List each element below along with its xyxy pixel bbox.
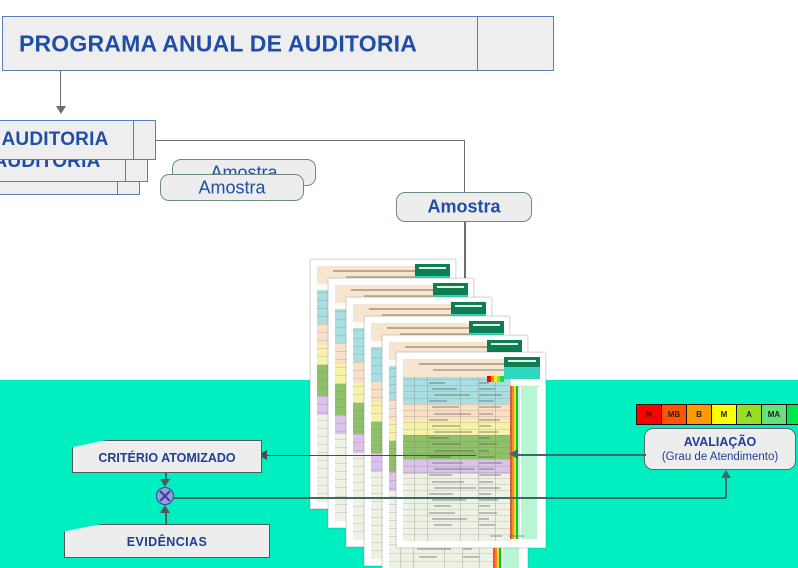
document-text-run: [479, 388, 495, 390]
connector-junction-to-avaliacao-vertical: [725, 478, 727, 498]
document-text-run: [434, 431, 472, 433]
criterio-atomizado-label: CRITÉRIO ATOMIZADO: [73, 451, 261, 465]
connector-junction-to-avaliacao-horizontal: [170, 497, 726, 499]
document-text-run: [479, 462, 502, 464]
document-gridline: [403, 441, 510, 442]
document-gridline: [403, 490, 510, 491]
arrowhead-evidencias-to-junction: [160, 505, 170, 513]
document-text-run: [429, 474, 452, 476]
document-text-run: [432, 499, 466, 501]
programa-anual-de-auditoria-box[interactable]: PROGRAMA ANUAL DE AUDITORIA: [2, 16, 554, 71]
document-gridline: [403, 422, 510, 423]
auditoria-box-1-divider: [133, 121, 134, 159]
arrowhead-avaliacao-to-documents: [509, 449, 518, 459]
document-text-run: [479, 487, 499, 489]
checklist-document-6[interactable]: [396, 352, 546, 548]
document-color-ribbon-5: [518, 386, 520, 539]
document-gridline: [403, 466, 510, 467]
document-gridline: [403, 459, 510, 460]
document-text-run: [479, 518, 489, 520]
document-text-run: [479, 406, 501, 408]
connector-auditoria-to-amostra-vertical: [464, 140, 465, 192]
document-text-run: [479, 456, 495, 458]
legend-cell-ma: MA: [762, 405, 787, 424]
document-text-run: [434, 413, 471, 415]
document-summary-title: [491, 343, 518, 345]
document-text-run: [419, 556, 436, 558]
legend-cell-a: A: [737, 405, 762, 424]
document-text-run: [432, 388, 458, 390]
grau-atendimento-legend: NMBBMAMA: [636, 404, 798, 425]
auditoria-box-1[interactable]: AUDITORIA: [0, 120, 156, 160]
arrowhead-title-to-auditoria: [56, 106, 66, 114]
document-gridline: [403, 391, 510, 392]
document-text-run: [434, 487, 476, 489]
document-gridline: [403, 478, 510, 479]
document-text-run: [479, 431, 498, 433]
document-summary-title: [473, 324, 500, 326]
amostra-box-stack-1-label: Amostra: [161, 177, 303, 198]
avaliacao-title: AVALIAÇÃO: [684, 435, 756, 450]
document-text-run: [434, 468, 475, 470]
connector-evidencias-to-junction: [165, 512, 167, 524]
document-text-run: [429, 400, 447, 402]
document-text-run: [479, 437, 490, 439]
document-text-run: [429, 382, 445, 384]
document-color-ribbon-6: [521, 386, 537, 539]
document-text-run: [434, 450, 473, 452]
connector-auditoria-to-amostra-horizontal: [156, 140, 465, 141]
document-text-run: [479, 499, 498, 501]
amostra-main-box[interactable]: Amostra: [396, 192, 532, 222]
connector-avaliacao-to-documents: [518, 454, 646, 456]
document-gridline: [403, 509, 510, 510]
document-text-run: [429, 419, 448, 421]
document-text-run: [479, 443, 497, 445]
document-summary-body: [504, 367, 541, 379]
document-gridline: [403, 503, 510, 504]
document-gridline: [403, 416, 510, 417]
legend-cell-mb: MB: [662, 405, 687, 424]
document-text-run: [429, 493, 453, 495]
document-text-run: [463, 548, 472, 550]
document-text-run: [479, 512, 497, 514]
document-gridline: [403, 484, 510, 485]
legend-cell-b: B: [687, 405, 712, 424]
document-mini-legend-bars: [487, 376, 503, 382]
document-footnote: [490, 535, 502, 537]
document-column-line: [414, 377, 415, 541]
document-gridline: [403, 385, 510, 386]
connector-title-to-auditoria: [60, 71, 61, 107]
auditoria-box-1-label: AUDITORIA: [0, 129, 133, 151]
arrowhead-criterio-to-junction: [160, 479, 170, 487]
document-summary-title: [419, 267, 446, 269]
document-text-run: [479, 394, 502, 396]
document-gridline: [403, 447, 510, 448]
document-gridline: [403, 521, 510, 522]
document-summary-title: [455, 305, 482, 307]
arrowhead-into-avaliacao: [721, 470, 731, 478]
document-text-run: [479, 425, 491, 427]
legend-cell-n: N: [637, 405, 662, 424]
evidencias-box[interactable]: EVIDÊNCIAS: [64, 524, 270, 558]
avaliacao-subtitle: (Grau de Atendimento): [662, 450, 778, 464]
document-text-run: [432, 425, 461, 427]
document-gridline: [403, 528, 510, 529]
document-text-run: [479, 524, 495, 526]
document-text-run: [434, 505, 450, 507]
title-box-label: PROGRAMA ANUAL DE AUDITORIA: [0, 30, 493, 57]
document-summary-block: [504, 357, 541, 379]
document-footnote: [509, 535, 524, 537]
document-text-run: [479, 468, 494, 470]
document-text-run: [432, 518, 467, 520]
diagram-canvas: PROGRAMA ANUAL DE AUDITORIA AUDITORIA AU…: [0, 0, 798, 568]
avaliacao-box[interactable]: AVALIAÇÃO (Grau de Atendimento): [644, 428, 796, 470]
document-paper: [403, 359, 539, 541]
document-text-run: [479, 400, 494, 402]
legend-cell-blank-6: [787, 405, 798, 424]
document-text-run: [432, 443, 462, 445]
document-gridline: [403, 398, 510, 399]
legend-cell-m: M: [712, 405, 737, 424]
document-gridline: [403, 515, 510, 516]
connector-documents-to-criterio: [266, 455, 476, 456]
document-gridline: [403, 429, 510, 430]
document-header-line-2: [433, 369, 509, 371]
document-gridline: [389, 553, 493, 554]
document-text-run: [479, 505, 490, 507]
document-gridline: [403, 472, 510, 473]
document-text-run: [479, 481, 493, 483]
document-gridline: [403, 410, 510, 411]
document-gridline: [403, 404, 510, 405]
document-text-run: [479, 474, 501, 476]
document-column-line: [510, 377, 511, 541]
document-summary-title: [508, 360, 536, 362]
document-text-run: [434, 394, 469, 396]
document-gridline: [389, 561, 493, 562]
document-text-run: [432, 406, 459, 408]
document-text-run: [479, 450, 489, 452]
criterio-atomizado-box[interactable]: CRITÉRIO ATOMIZADO: [72, 440, 262, 473]
document-text-run: [429, 456, 451, 458]
document-text-run: [434, 524, 452, 526]
document-text-run: [429, 437, 449, 439]
document-text-run: [417, 548, 451, 550]
document-text-run: [463, 556, 479, 558]
document-gridline: [403, 435, 510, 436]
amostra-main-label: Amostra: [397, 197, 531, 218]
document-text-run: [479, 419, 499, 421]
evidencias-label: EVIDÊNCIAS: [65, 535, 269, 549]
document-text-run: [429, 512, 455, 514]
amostra-box-stack-1[interactable]: Amostra: [160, 174, 304, 201]
document-column-line: [495, 377, 496, 541]
document-text-run: [479, 493, 491, 495]
document-text-run: [432, 481, 465, 483]
document-mini-legend-cell: [500, 376, 503, 382]
document-text-run: [479, 413, 493, 415]
junction-node-icon: [156, 487, 174, 505]
document-summary-title: [437, 286, 464, 288]
document-column-line: [460, 377, 461, 541]
document-text-run: [432, 462, 463, 464]
